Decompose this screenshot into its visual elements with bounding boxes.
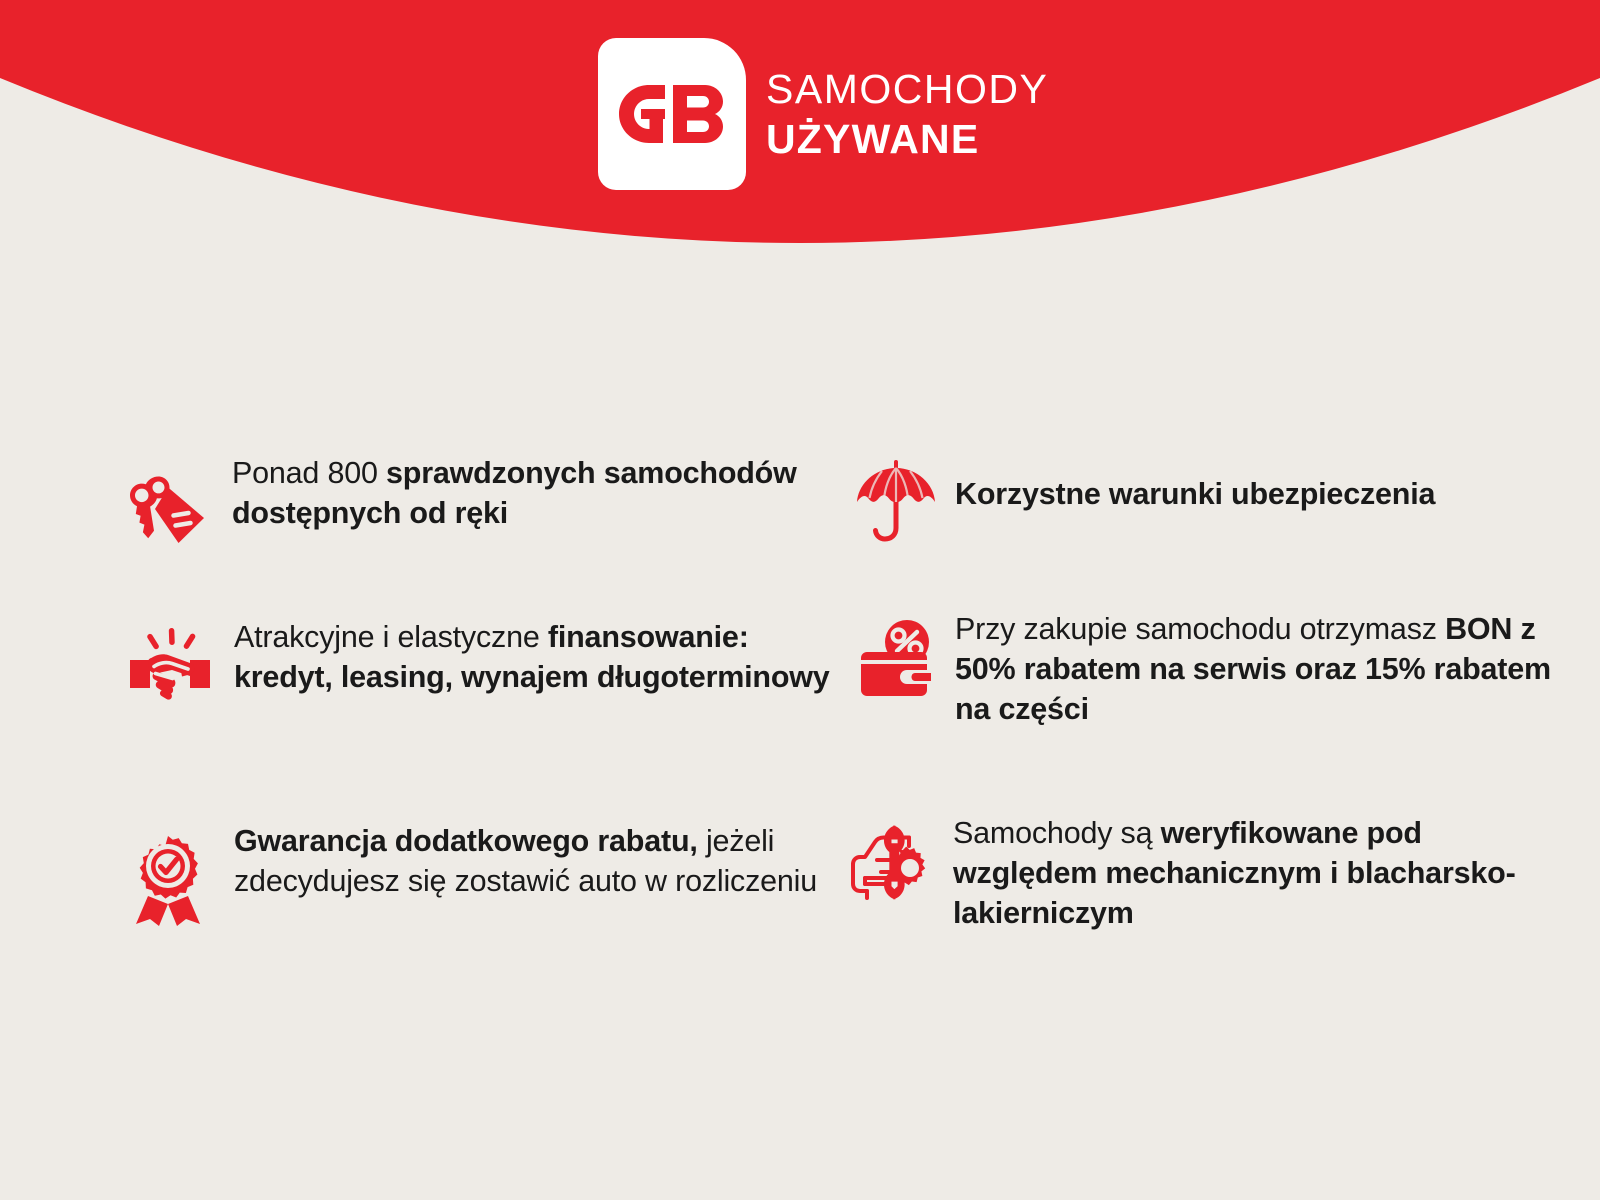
feature-text-part-bold: Korzystne warunki ubezpieczenia bbox=[955, 477, 1435, 511]
car-wrench-gear-icon bbox=[847, 812, 947, 902]
umbrella-icon bbox=[855, 454, 955, 544]
feature-item: Ponad 800 sprawdzonych samochodów dostęp… bbox=[128, 452, 848, 548]
brand-logo[interactable]: SAMOCHODY UŻYWANE bbox=[598, 38, 1048, 190]
feature-item: Gwarancja dodatkowego rabatu, jeżeli zde… bbox=[128, 820, 848, 926]
handshake-icon bbox=[128, 616, 228, 710]
feature-text: Ponad 800 sprawdzonych samochodów dostęp… bbox=[232, 452, 848, 533]
feature-text: Samochody są weryfikowane pod względem m… bbox=[953, 812, 1565, 933]
feature-text: Atrakcyjne i elastyczne finansowanie: kr… bbox=[234, 616, 848, 697]
brand-wordmark: SAMOCHODY UŻYWANE bbox=[766, 69, 1048, 160]
award-rosette-check-icon bbox=[128, 820, 228, 926]
feature-item: Przy zakupie samochodu otrzymasz BON z 5… bbox=[845, 608, 1565, 729]
feature-text-part: Samochody są bbox=[953, 816, 1161, 850]
gb-monogram-icon bbox=[598, 38, 746, 190]
feature-text: Korzystne warunki ubezpieczenia bbox=[955, 454, 1435, 514]
brand-line-1: SAMOCHODY bbox=[766, 69, 1048, 110]
key-tag-icon bbox=[128, 452, 228, 548]
feature-text: Gwarancja dodatkowego rabatu, jeżeli zde… bbox=[234, 820, 848, 901]
feature-text-part: Przy zakupie samochodu otrzymasz bbox=[955, 612, 1445, 646]
feature-text-part: Atrakcyjne i elastyczne bbox=[234, 620, 548, 654]
wallet-percent-icon bbox=[855, 608, 955, 702]
brand-line-2: UŻYWANE bbox=[766, 119, 1048, 160]
feature-item: Atrakcyjne i elastyczne finansowanie: kr… bbox=[128, 616, 848, 710]
feature-text: Przy zakupie samochodu otrzymasz BON z 5… bbox=[955, 608, 1565, 729]
feature-text-part-bold: Gwarancja dodatkowego rabatu, bbox=[234, 824, 698, 858]
feature-item: Samochody są weryfikowane pod względem m… bbox=[845, 812, 1565, 933]
page-header: SAMOCHODY UŻYWANE bbox=[0, 0, 1600, 300]
feature-item: Korzystne warunki ubezpieczenia bbox=[845, 454, 1565, 544]
feature-list: Ponad 800 sprawdzonych samochodów dostęp… bbox=[0, 440, 1600, 980]
feature-text-part: Ponad 800 bbox=[232, 456, 386, 490]
